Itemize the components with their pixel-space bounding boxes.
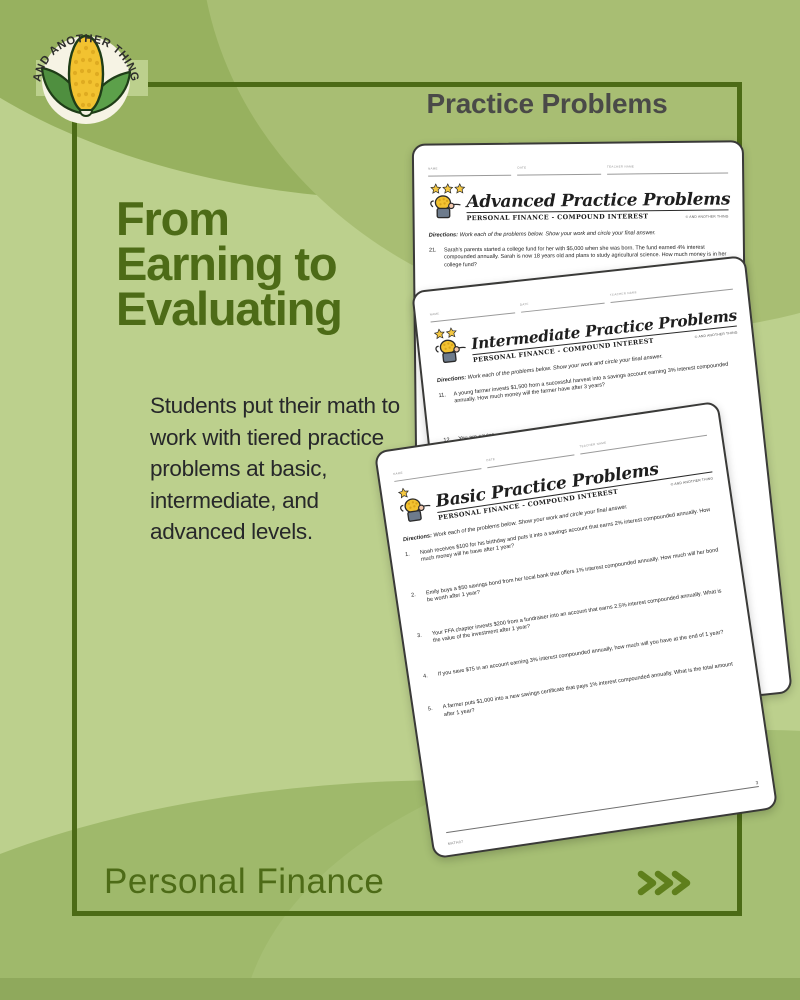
page-title: Practice Problems (382, 88, 712, 120)
directions-label: Directions: (429, 232, 458, 238)
field-date[interactable]: DATE (517, 155, 601, 176)
footer-subject: Personal Finance (104, 862, 384, 902)
copyright-label: © AND ANOTHER THING (670, 476, 713, 486)
worksheet-card-basic[interactable]: NAME DATE TEACHER NAME (374, 401, 778, 859)
copyright-label: © AND ANOTHER THING (695, 330, 738, 339)
field-teacher-name[interactable]: TEACHER NAME (607, 153, 728, 174)
headline-line-1: From (116, 196, 416, 241)
headline-line-2: Earning to (116, 241, 416, 286)
field-name[interactable]: NAME (428, 156, 512, 177)
corn-mascot-icon (433, 336, 470, 369)
headline-line-3: Evaluating (116, 286, 416, 331)
brand-logo: AND ANOTHER THING (28, 18, 144, 134)
worksheet-card-stack: NAME DATE TEACHER NAME (0, 0, 800, 1000)
poster-canvas: AND ANOTHER THING Practice Problems From… (0, 0, 800, 1000)
corn-mascot-icon (397, 494, 435, 529)
worksheet-title: Advanced Practice Problems (466, 191, 728, 211)
corn-mascot-icon (428, 193, 462, 223)
student-fields: NAME DATE TEACHER NAME (428, 153, 728, 176)
sheet-footer: 3 MATH07 (445, 780, 761, 846)
worksheet-subtitle: PERSONAL FINANCE - COMPOUND INTEREST (467, 212, 649, 222)
field-date[interactable]: DATE (519, 284, 605, 313)
triple-chevron-right-icon (636, 868, 694, 898)
copyright-label: © AND ANOTHER THING (686, 214, 729, 218)
directions-label: Directions: (437, 375, 467, 384)
field-name[interactable]: NAME (429, 293, 515, 322)
hero-headline: From Earning to Evaluating (116, 196, 416, 331)
hero-subcopy: Students put their math to work with tie… (150, 390, 400, 548)
directions-label: Directions: (403, 533, 433, 543)
directions-text: Directions: Work each of the problems be… (429, 229, 729, 239)
question-list: 1. Noah receives $100 for his birthday a… (405, 506, 743, 722)
